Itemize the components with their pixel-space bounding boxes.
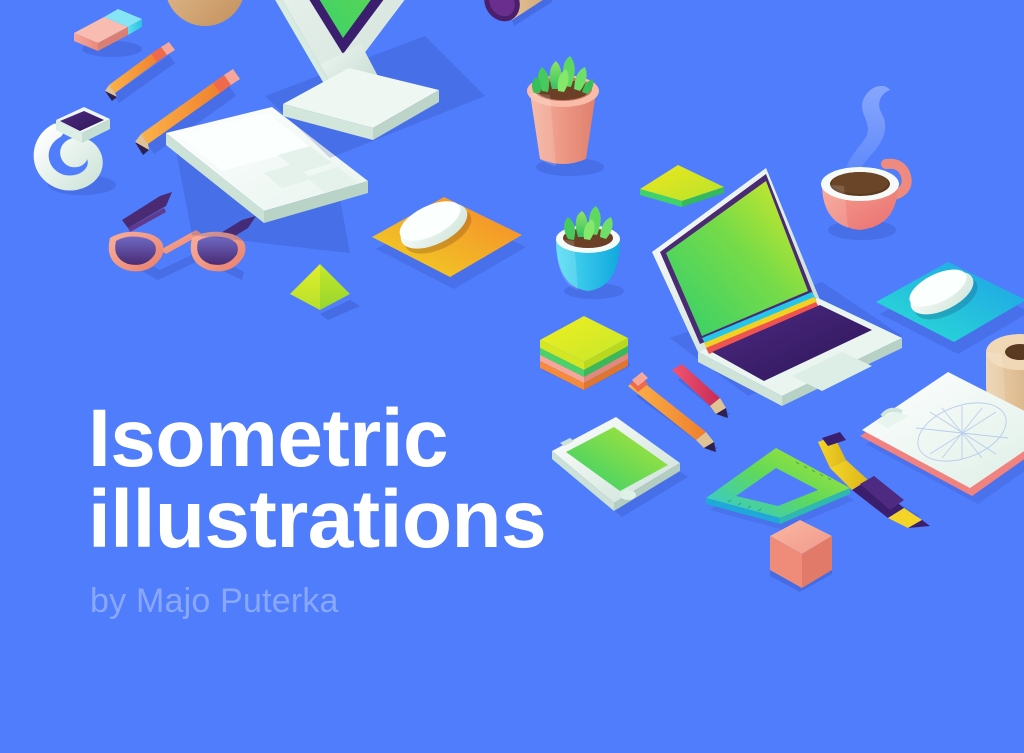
poster-author: by Majo Puterka <box>90 582 546 621</box>
page-title-line2: illustrations <box>88 479 546 560</box>
plant-cyan-icon <box>538 195 638 305</box>
coffee-mug-top-icon <box>478 0 568 44</box>
imac-icon <box>225 0 515 188</box>
poster-canvas: Isometric illustrations by Majo Puterka <box>0 0 1024 753</box>
plant-terracotta-icon <box>508 55 618 180</box>
coffee-cup-icon <box>806 76 926 256</box>
cube-icon <box>754 512 844 602</box>
poster-text-block: Isometric illustrations by Majo Puterka <box>88 398 546 621</box>
pencil-pink-icon <box>664 362 754 442</box>
page-title-line1: Isometric <box>88 398 546 479</box>
pyramid-icon <box>280 258 370 328</box>
mousepad-orange-icon <box>368 183 528 293</box>
